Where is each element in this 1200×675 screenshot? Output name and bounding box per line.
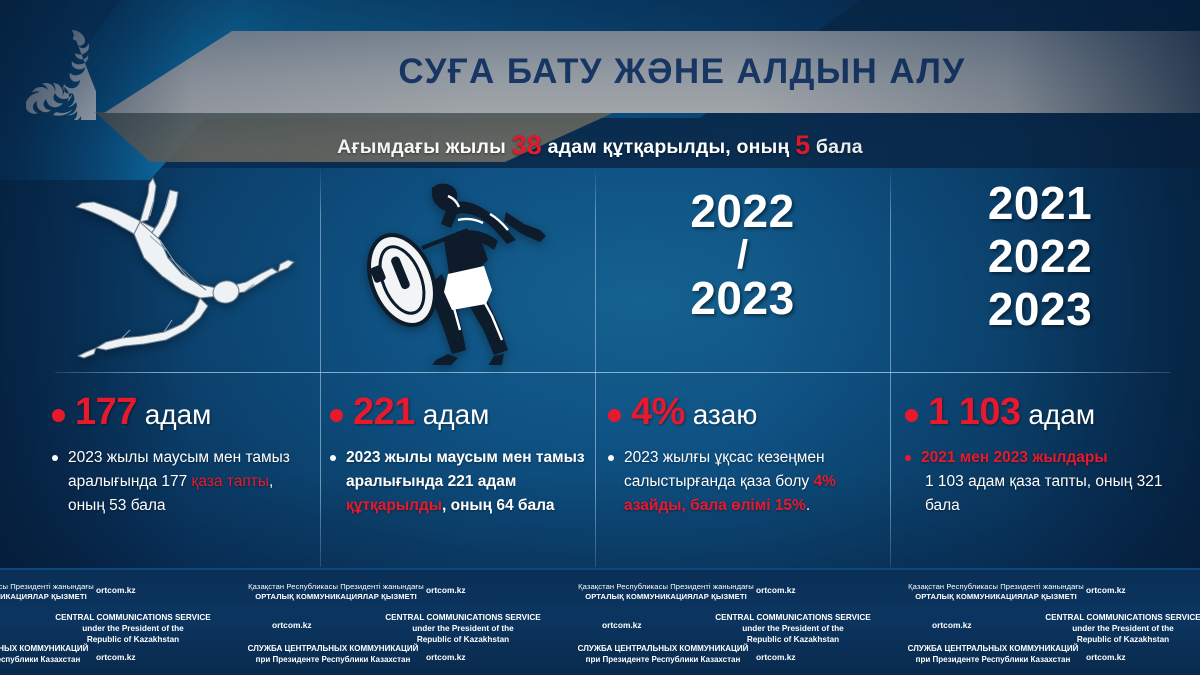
year-separator: /	[595, 235, 890, 275]
footer-url: ortcom.kz	[756, 585, 796, 595]
stat-body-highlight-1: қаза тапты	[192, 473, 269, 490]
footer-url: ortcom.kz	[602, 620, 642, 630]
footer-url: ortcom.kz	[96, 652, 136, 662]
bullet-dot-small-icon	[905, 455, 911, 461]
bullet-dot-icon	[905, 409, 918, 422]
footer-en-block: CENTRAL COMMUNICATIONS SERVICE under the…	[998, 612, 1200, 645]
stat-body-text-3b: .	[806, 497, 810, 514]
year-2023: 2023	[890, 286, 1190, 333]
years-2022-2023: 2022 / 2023	[595, 188, 890, 322]
stat-headline-3: 4% азаю	[608, 392, 880, 434]
stat-column-1: 177 адам 2023 жылы маусым мен тамыз арал…	[52, 392, 307, 518]
bullet-dot-small-icon	[330, 455, 336, 461]
footer-ru-line2: при Президенте Республики Казахстан	[538, 655, 788, 666]
footer-ru-line2: при Президенте Республики Казахстан	[208, 655, 458, 666]
footer-ru-block: СЛУЖБА ЦЕНТРАЛЬНЫХ КОММУНИКАЦИЙ при През…	[208, 644, 458, 666]
stat-headline-1: 177 адам	[52, 392, 307, 434]
footer-ru-line1: СЛУЖБА ЦЕНТРАЛЬНЫХ КОММУНИКАЦИЙ	[538, 644, 788, 655]
footer-kz-block: Қазақстан Республикасы Президенті жанынд…	[876, 582, 1116, 603]
stat-body-2: 2023 жылы маусым мен тамыз аралығында 22…	[330, 446, 585, 518]
horizontal-divider	[55, 372, 1170, 373]
year-bottom: 2023	[595, 275, 890, 322]
stat-body-1: 2023 жылы маусым мен тамыз аралығында 17…	[52, 446, 307, 518]
footer-ru-line2: при Президенте Республики Казахстан	[868, 655, 1118, 666]
stat-body-3: 2023 жылғы ұқсас кезеңмен салыстырғанда …	[608, 446, 880, 518]
footer-url: ortcom.kz	[272, 620, 312, 630]
footer-ru-line1: СЛУЖБА ЦЕНТРАЛЬНЫХ КОММУНИКАЦИЙ	[208, 644, 458, 655]
footer-kz-line1: Қазақстан Республикасы Президенті жанынд…	[546, 582, 786, 592]
infographic-poster: СУҒА БАТУ ЖӘНЕ АЛДЫН АЛУ Ағымдағы жылы 3…	[0, 0, 1200, 675]
footer-kz-block: Қазақстан Республикасы Президенті жанынд…	[216, 582, 456, 603]
year-2022: 2022	[890, 233, 1190, 280]
footer-tile: Қазақстан Республикасы Президенті жанынд…	[198, 570, 528, 675]
bullet-dot-icon	[52, 409, 65, 422]
footer-ru-line1: СЛУЖБА ЦЕНТРАЛЬНЫХ КОММУНИКАЦИЙ	[868, 644, 1118, 655]
years-2021-2022-2023: 2021 2022 2023	[890, 180, 1190, 333]
footer-en-line2: under the President of the	[998, 623, 1200, 634]
stat-number-2: 221	[353, 391, 415, 433]
stat-number-3: 4%	[631, 391, 685, 433]
stat-number-1: 177	[75, 391, 137, 433]
footer-kz-line1: Қазақстан Республикасы Президенті жанынд…	[876, 582, 1116, 592]
bullet-dot-icon	[330, 409, 343, 422]
stat-column-2: 221 адам 2023 жылы маусым мен тамыз арал…	[330, 392, 585, 518]
footer-ru-block: СЛУЖБА ЦЕНТРАЛЬНЫХ КОММУНИКАЦИЙ при През…	[538, 644, 788, 666]
bullet-dot-icon	[608, 409, 621, 422]
footer-watermark-bar: Қазақстан Республикасы Президенті жанынд…	[0, 568, 1200, 675]
bullet-dot-small-icon	[52, 455, 58, 461]
footer-url: ortcom.kz	[1086, 652, 1126, 662]
footer-url: ortcom.kz	[96, 585, 136, 595]
stat-body-text-3a: 2023 жылғы ұқсас кезеңмен салыстырғанда …	[624, 449, 825, 490]
stat-body-text-4: 1 103 адам қаза тапты, оның 321 бала	[921, 470, 1180, 518]
stat-unit-4: адам	[1028, 399, 1095, 430]
stat-column-4: 1 103 адам 2021 мен 2023 жылдары 1 103 а…	[905, 392, 1180, 518]
stat-unit-3: азаю	[693, 399, 758, 430]
stat-headline-4: 1 103 адам	[905, 392, 1180, 434]
drowning-person-illustration	[45, 167, 310, 367]
stat-unit-2: адам	[423, 399, 490, 430]
footer-kz-line1: Қазақстан Республикасы Президенті жанынд…	[216, 582, 456, 592]
stat-body-4: 2021 мен 2023 жылдары 1 103 адам қаза та…	[905, 446, 1180, 518]
year-2021: 2021	[890, 180, 1190, 227]
stat-number-4: 1 103	[928, 391, 1021, 433]
stat-body-text-2a: 2023 жылы маусым мен тамыз аралығында 22…	[346, 449, 585, 490]
footer-kz-line2: ОРТАЛЫҚ КОММУНИКАЦИЯЛАР ҚЫЗМЕТІ	[546, 592, 786, 602]
bullet-dot-small-icon	[608, 455, 614, 461]
footer-en-line1: CENTRAL COMMUNICATIONS SERVICE	[998, 612, 1200, 623]
footer-url: ortcom.kz	[932, 620, 972, 630]
footer-ru-block: СЛУЖБА ЦЕНТРАЛЬНЫХ КОММУНИКАЦИЙ при През…	[868, 644, 1118, 666]
footer-url: ortcom.kz	[426, 585, 466, 595]
stat-headline-2: 221 адам	[330, 392, 585, 434]
footer-tile: Қазақстан Республикасы Президенті жанынд…	[528, 570, 858, 675]
column-divider-1	[320, 167, 321, 567]
footer-kz-line2: ОРТАЛЫҚ КОММУНИКАЦИЯЛАР ҚЫЗМЕТІ	[216, 592, 456, 602]
footer-url: ortcom.kz	[756, 652, 796, 662]
year-top: 2022	[595, 188, 890, 235]
footer-kz-block: Қазақстан Республикасы Президенті жанынд…	[546, 582, 786, 603]
footer-tile: Қазақстан Республикасы Президенті жанынд…	[858, 570, 1188, 675]
stat-body-highlight-2: құтқарылды	[346, 497, 442, 514]
stat-body-highlight-4: 2021 мен 2023 жылдары	[921, 446, 1180, 470]
footer-kz-line2: ОРТАЛЫҚ КОММУНИКАЦИЯЛАР ҚЫЗМЕТІ	[876, 592, 1116, 602]
footer-url: ortcom.kz	[426, 652, 466, 662]
footer-tile: Қазақстан Республикасы Президенті жанынд…	[0, 570, 198, 675]
stat-column-3: 4% азаю 2023 жылғы ұқсас кезеңмен салыст…	[608, 392, 880, 518]
lifeguard-rescuer-illustration	[330, 167, 590, 367]
footer-url: ortcom.kz	[1086, 585, 1126, 595]
stat-body-text-2b: , оның 64 бала	[442, 497, 555, 514]
stat-unit-1: адам	[145, 399, 212, 430]
